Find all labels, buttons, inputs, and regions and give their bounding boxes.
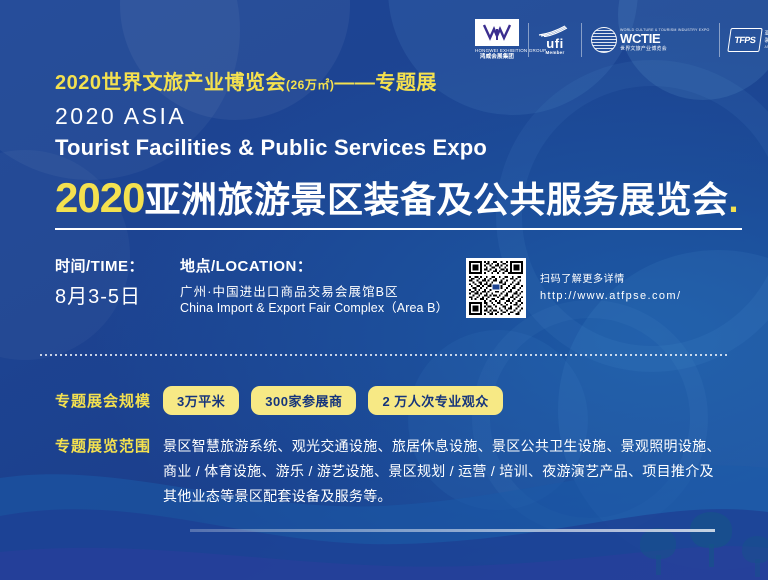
partner-logo-strip: HONGWEI EXHIBITION GROUP 鸿威会展集团 ufi Memb…: [466, 20, 768, 60]
website-url[interactable]: http://www.atfpse.com/: [540, 288, 681, 305]
headline-block: 2020世界文旅产业博览会(26万㎡)——专题展 2020 ASIA Touri…: [55, 70, 745, 163]
tfps-logo-subtext3: ASIA TOURIST FACILITIES & PUBLIC SERVICE…: [765, 45, 768, 50]
headline-english-line: Tourist Facilities & Public Services Exp…: [55, 133, 745, 163]
scale-badge-visitors: 2 万人次专业观众: [368, 386, 502, 415]
dotted-divider: [40, 354, 728, 356]
scope-label: 专题展览范围: [55, 434, 151, 509]
exhibition-scope-row: 专题展览范围 景区智慧旅游系统、观光交通设施、旅居休息设施、景区公共卫生设施、景…: [55, 434, 745, 509]
qr-caption-block: 扫码了解更多详情 http://www.atfpse.com/: [540, 272, 681, 305]
time-value: 8月3-5日: [55, 282, 180, 312]
wctie-logo-subtext2: WORLD CULTURE & TOURISM INDUSTRY EXPO: [620, 28, 710, 32]
tree-silhouette-icon: [690, 512, 732, 570]
scale-label: 专题展会规模: [55, 390, 151, 411]
time-label: 时间/TIME：: [55, 256, 180, 278]
ufi-member-subtext: Member: [538, 50, 572, 55]
wctie-logo-subtext: 世界文旅产业博览会: [620, 45, 710, 52]
globe-icon: [591, 27, 617, 53]
tree-silhouette-icon: [742, 536, 768, 580]
qr-block[interactable]: 扫码了解更多详情 http://www.atfpse.com/: [466, 258, 681, 318]
scope-text: 景区智慧旅游系统、观光交通设施、旅居休息设施、景区公共卫生设施、景观照明设施、商…: [163, 434, 723, 509]
location-english: China Import & Export Fair Complex（Area …: [180, 300, 448, 316]
big-title-chinese: 亚洲旅游景区装备及公共服务展览会: [144, 178, 728, 222]
exhibition-scale-row: 专题展会规模 3万平米 300家参展商 2 万人次专业观众: [55, 386, 503, 415]
qr-code-icon: [469, 261, 523, 315]
hongwei-logo-text: 鸿威会展集团: [475, 54, 519, 61]
footer-divider-line: [190, 529, 715, 532]
title-underline-rule: [55, 228, 742, 230]
hongwei-w-mark-icon: [475, 19, 519, 46]
scale-badge-exhibitors: 300家参展商: [251, 386, 356, 415]
event-info-row: 时间/TIME： 8月3-5日 地点/LOCATION： 广州·中国进出口商品交…: [55, 256, 448, 316]
event-time-block: 时间/TIME： 8月3-5日: [55, 256, 180, 312]
tfps-logo-subtext2: 装备及公共服务展览会: [765, 38, 768, 45]
headline-asia-line: 2020 ASIA: [55, 100, 745, 132]
hongwei-exhibition-group-logo: HONGWEI EXHIBITION GROUP 鸿威会展集团: [466, 20, 528, 60]
tfps-logo: TFPS 亚洲旅游景区 装备及公共服务展览会 ASIA TOURIST FACI…: [720, 20, 768, 60]
w-glyph-icon: [482, 23, 512, 42]
ufi-member-logo: ufi Member: [529, 20, 581, 60]
event-poster: HONGWEI EXHIBITION GROUP 鸿威会展集团 ufi Memb…: [0, 0, 768, 580]
event-location-block: 地点/LOCATION： 广州·中国进出口商品交易会展馆B区 China Imp…: [180, 256, 448, 316]
headline-cn-tail: ——专题展: [334, 72, 437, 94]
scale-badge-area: 3万平米: [163, 386, 239, 415]
tree-silhouette-icon: [640, 528, 676, 578]
big-title-row: 2020 亚洲旅游景区装备及公共服务展览会 .: [55, 176, 738, 222]
headline-chinese-line: 2020世界文旅产业博览会(26万㎡)——专题展: [55, 70, 745, 98]
tfps-logo-subtext: 亚洲旅游景区: [765, 31, 768, 38]
ufi-logo-text: ufi: [538, 37, 572, 50]
tfps-mark-icon: TFPS: [727, 28, 762, 52]
location-chinese: 广州·中国进出口商品交易会展馆B区: [180, 284, 448, 300]
wctie-logo-text: WCTIE: [620, 32, 710, 45]
big-title-period: .: [728, 178, 738, 222]
location-label: 地点/LOCATION：: [180, 256, 448, 278]
big-title-year: 2020: [55, 176, 144, 220]
tfps-logo-text: TFPS: [733, 35, 755, 45]
headline-cn-area: (26万㎡): [286, 78, 334, 92]
headline-cn-main: 2020世界文旅产业博览会: [55, 72, 286, 94]
wctie-logo: WORLD CULTURE & TOURISM INDUSTRY EXPO WC…: [582, 20, 719, 60]
qr-code-image[interactable]: [466, 258, 526, 318]
qr-caption: 扫码了解更多详情: [540, 272, 681, 288]
